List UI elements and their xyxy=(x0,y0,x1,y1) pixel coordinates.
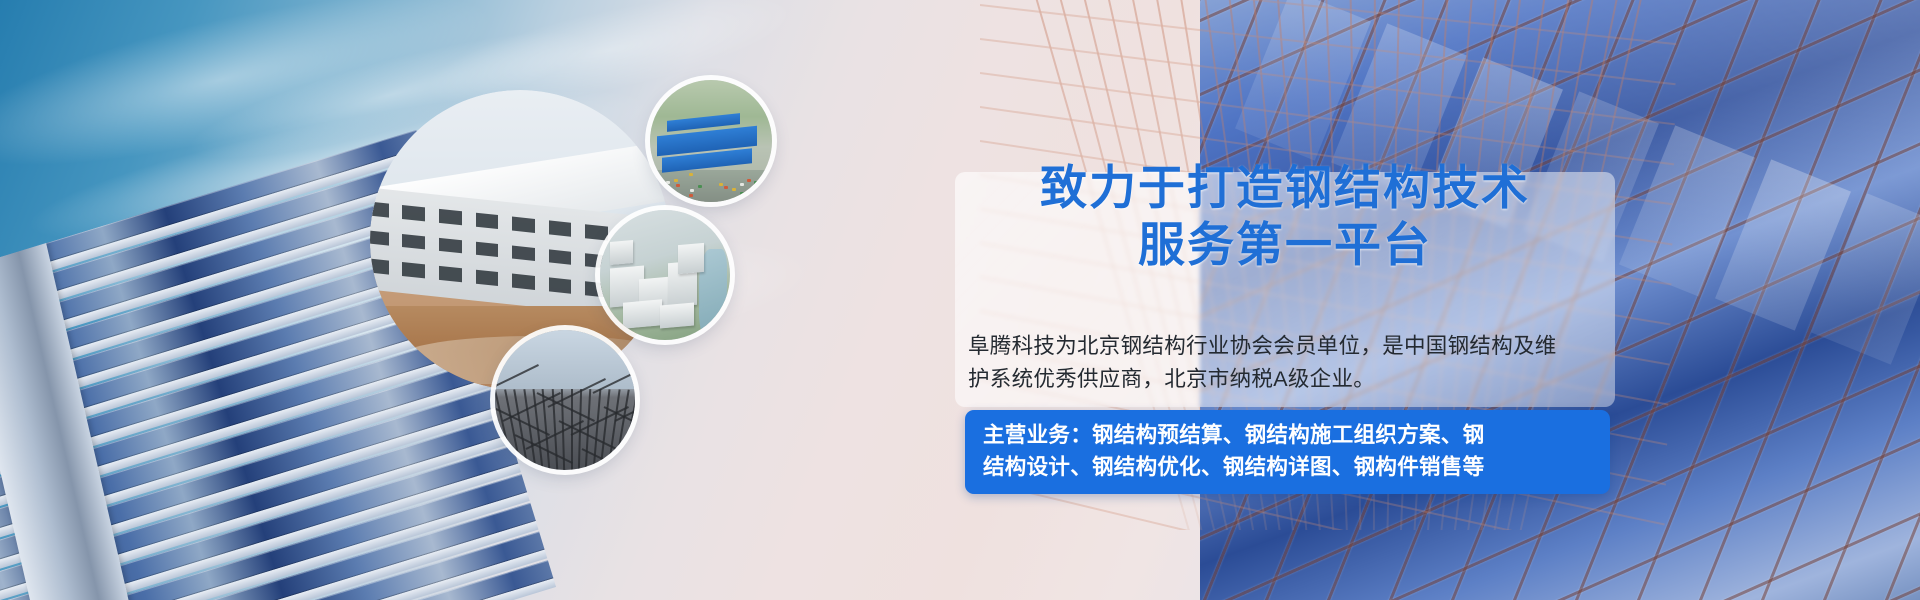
description-line-1: 阜腾科技为北京钢结构行业协会会员单位，是中国钢结构及维 xyxy=(968,330,1608,363)
services-badge: 主营业务：钢结构预结算、钢结构施工组织方案、钢 结构设计、钢结构优化、钢结构详图… xyxy=(965,410,1610,494)
headline-line-2: 服务第一平台 xyxy=(955,217,1615,274)
company-description: 阜腾科技为北京钢结构行业协会会员单位，是中国钢结构及维 护系统优秀供应商，北京市… xyxy=(968,330,1608,396)
collage-thumb-campus xyxy=(600,210,730,340)
page-title: 致力于打造钢结构技术 服务第一平台 xyxy=(955,160,1615,274)
services-line-1: 主营业务：钢结构预结算、钢结构施工组织方案、钢 xyxy=(983,419,1592,451)
collage-thumb-factory xyxy=(650,80,772,202)
photo-collage xyxy=(350,40,770,500)
headline-line-1: 致力于打造钢结构技术 xyxy=(955,160,1615,217)
collage-thumb-truss xyxy=(495,330,635,470)
description-line-2: 护系统优秀供应商，北京市纳税A级企业。 xyxy=(968,363,1608,396)
services-line-2: 结构设计、钢结构优化、钢结构详图、钢构件销售等 xyxy=(983,451,1592,483)
hero-banner: 致力于打造钢结构技术 服务第一平台 阜腾科技为北京钢结构行业协会会员单位，是中国… xyxy=(0,0,1920,600)
